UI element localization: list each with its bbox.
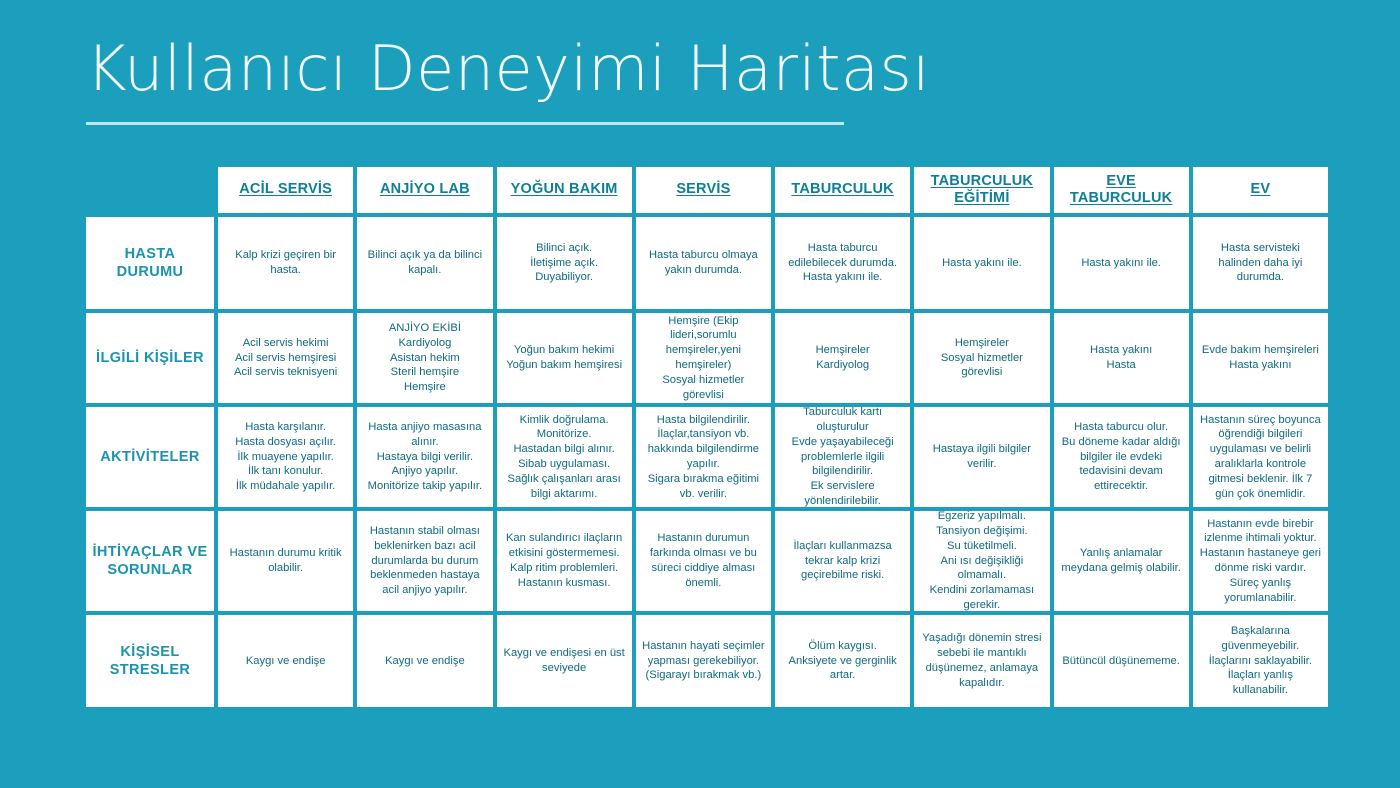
table-cell: Acil servis hekimi Acil servis hemşiresi… (218, 313, 353, 403)
table-cell: Yoğun bakım hekimi Yoğun bakım hemşiresi (497, 313, 632, 403)
row-header-hasta-durumu[interactable]: HASTA DURUMU (86, 217, 214, 309)
table-cell: Hasta taburcu olmaya yakın durumda. (636, 217, 771, 309)
page-title: Kullanıcı Deneyimi Haritası (86, 38, 1316, 100)
table-cell: Kaygı ve endişe (357, 615, 492, 707)
table-cell: Hasta taburcu olur. Bu döneme kadar aldı… (1054, 407, 1189, 507)
row-header-aktiviteler[interactable]: AKTİVİTELER (86, 407, 214, 507)
column-header-label: ACİL SERVİS (239, 181, 332, 198)
table-cell: Hemşireler Kardiyolog (775, 313, 910, 403)
title-divider (86, 122, 844, 125)
column-header-eve-taburculuk[interactable]: EVE TABURCULUK (1054, 167, 1189, 213)
column-header-label: YOĞUN BAKIM (511, 181, 618, 198)
table-cell: Hasta anjiyo masasına alınır. Hastaya bi… (357, 407, 492, 507)
column-header-label: EVE TABURCULUK (1060, 173, 1183, 207)
table-cell: Kaygı ve endişe (218, 615, 353, 707)
table-cell: Hasta servisteki halinden daha iyi durum… (1193, 217, 1328, 309)
table-cell: Hasta taburcu edilebilecek durumda. Hast… (775, 217, 910, 309)
table-cell: Hastaya ilgili bilgiler verilir. (914, 407, 1049, 507)
table-cell: Hastanın durumu kritik olabilir. (218, 511, 353, 611)
table-cell: Kalp krizi geçiren bir hasta. (218, 217, 353, 309)
table-cell: Ölüm kaygısı. Anksiyete ve gerginlik art… (775, 615, 910, 707)
table-cell: Yanlış anlamalar meydana gelmiş olabilir… (1054, 511, 1189, 611)
experience-map-grid: ACİL SERVİS ANJİYO LAB YOĞUN BAKIM SERVİ… (86, 167, 1328, 707)
row-header-ilgili-kisiler[interactable]: İLGİLİ KİŞİLER (86, 313, 214, 403)
table-cell: ANJİYO EKİBİ Kardiyolog Asistan hekim St… (357, 313, 492, 403)
table-cell: Kaygı ve endişesi en üst seviyede (497, 615, 632, 707)
table-cell: Kan sulandırıcı ilaçların etkisini göste… (497, 511, 632, 611)
table-cell: Bütüncül düşünememe. (1054, 615, 1189, 707)
table-cell: Hemşireler Sosyal hizmetler görevlisi (914, 313, 1049, 403)
table-cell: İlaçları kullanmazsa tekrar kalp krizi g… (775, 511, 910, 611)
column-header-anjiyo-lab[interactable]: ANJİYO LAB (357, 167, 492, 213)
table-cell: Hastanın hayati seçimler yapması gerekeb… (636, 615, 771, 707)
table-cell: Hasta karşılanır. Hasta dosyası açılır. … (218, 407, 353, 507)
table-cell: Taburculuk kartı oluşturulur Evde yaşaya… (775, 407, 910, 507)
column-header-yogun-bakim[interactable]: YOĞUN BAKIM (497, 167, 632, 213)
table-cell: Başkalarına güvenmeyebilir. İlaçlarını s… (1193, 615, 1328, 707)
table-cell: Hastanın stabil olması beklenirken bazı … (357, 511, 492, 611)
table-cell: Bilinci açık ya da bilinci kapalı. (357, 217, 492, 309)
grid-corner-spacer (86, 167, 214, 213)
table-cell: Evde bakım hemşireleri Hasta yakını (1193, 313, 1328, 403)
column-header-taburculuk[interactable]: TABURCULUK (775, 167, 910, 213)
slide-canvas: Kullanıcı Deneyimi Haritası ACİL SERVİS … (0, 0, 1400, 788)
table-cell: Hasta yakını Hasta (1054, 313, 1189, 403)
column-header-label: ANJİYO LAB (380, 181, 470, 198)
column-header-label: EV (1251, 181, 1271, 198)
table-cell: Hemşire (Ekip lideri,sorumlu hemşireler,… (636, 313, 771, 403)
table-cell: Hasta bilgilendirilir. İlaçlar,tansiyon … (636, 407, 771, 507)
row-header-ihtiyaclar-ve-sorunlar[interactable]: İHTİYAÇLAR VE SORUNLAR (86, 511, 214, 611)
table-cell: Hastanın süreç boyunca öğrendiği bilgile… (1193, 407, 1328, 507)
table-cell: Kimlik doğrulama. Monitörize. Hastadan b… (497, 407, 632, 507)
table-cell: Hasta yakını ile. (1054, 217, 1189, 309)
column-header-acil-servis[interactable]: ACİL SERVİS (218, 167, 353, 213)
table-cell: Hastanın durumun farkında olması ve bu s… (636, 511, 771, 611)
table-cell: Hastanın evde birebir izlenme ihtimali y… (1193, 511, 1328, 611)
title-block: Kullanıcı Deneyimi Haritası (86, 38, 1316, 125)
row-header-kisisel-stresler[interactable]: KİŞİSEL STRESLER (86, 615, 214, 707)
table-cell: Bilinci açık. İletişime açık. Duyabiliyo… (497, 217, 632, 309)
column-header-label: TABURCULUK (791, 181, 893, 198)
column-header-label: SERVİS (676, 181, 730, 198)
table-cell: Egzeriz yapılmalı. Tansiyon değişimi. Su… (914, 511, 1049, 611)
table-cell: Yaşadığı dönemin stresi sebebi ile mantı… (914, 615, 1049, 707)
column-header-label: TABURCULUK EĞİTİMİ (920, 173, 1043, 207)
table-cell: Hasta yakını ile. (914, 217, 1049, 309)
column-header-taburculuk-egitimi[interactable]: TABURCULUK EĞİTİMİ (914, 167, 1049, 213)
column-header-ev[interactable]: EV (1193, 167, 1328, 213)
column-header-servis[interactable]: SERVİS (636, 167, 771, 213)
